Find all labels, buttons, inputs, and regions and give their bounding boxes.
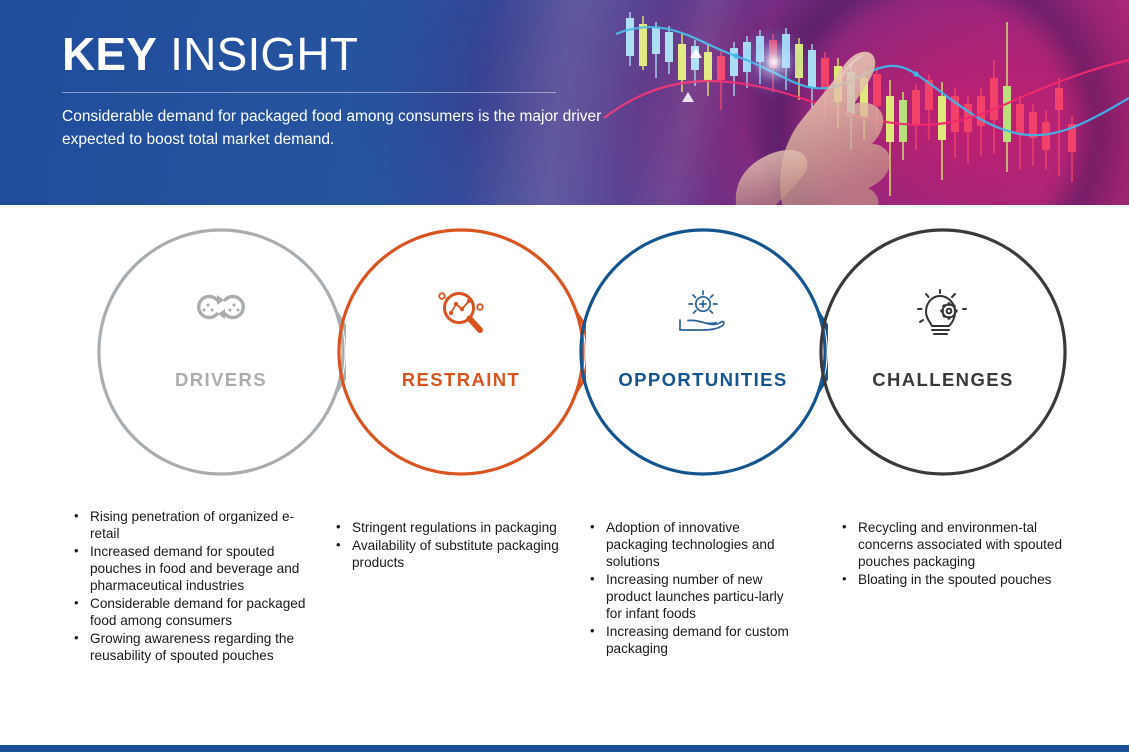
footer-bar [0, 745, 1129, 752]
list-item: Growing awareness regarding the reusabil… [72, 630, 312, 664]
challenges-label: CHALLENGES [818, 369, 1068, 391]
synergy-arrows-icon [193, 289, 249, 325]
page-title: KEY INSIGHT [62, 26, 622, 82]
infographic-page: KEY INSIGHT Considerable demand for pack… [0, 0, 1129, 755]
bullet-columns: Rising penetration of organized e-retail… [0, 508, 1129, 738]
column-restraint: Stringent regulations in packaging Avail… [334, 519, 564, 572]
opportunities-label: OPPORTUNITIES [578, 369, 828, 391]
list-item: Rising penetration of organized e-retail [72, 508, 312, 542]
process-diagram: DRIVERS [0, 205, 1129, 505]
drivers-list: Rising penetration of organized e-retail… [72, 508, 312, 664]
restraint-circle-shape [336, 227, 586, 477]
magnifier-analytics-icon [435, 289, 487, 335]
diagram-node-drivers[interactable]: DRIVERS [96, 227, 346, 477]
page-title-strong: KEY [62, 28, 157, 80]
restraint-list: Stringent regulations in packaging Avail… [334, 519, 564, 571]
opportunities-circle-shape [578, 227, 828, 477]
diagram-node-restraint[interactable]: RESTRAINT [336, 227, 586, 477]
page-title-rest: INSIGHT [157, 28, 358, 80]
lightbulb-gear-icon [917, 289, 969, 341]
list-item: Increasing demand for custom packaging [588, 623, 803, 657]
opportunities-icon-wrap [578, 289, 828, 342]
challenges-icon-wrap [818, 289, 1068, 346]
header-banner: KEY INSIGHT Considerable demand for pack… [0, 0, 1129, 205]
drivers-label: DRIVERS [96, 369, 346, 391]
column-opportunities: Adoption of innovative packaging technol… [588, 519, 803, 658]
drivers-circle-shape [96, 227, 346, 477]
title-divider [62, 92, 556, 93]
column-drivers: Rising penetration of organized e-retail… [72, 508, 312, 665]
list-item: Adoption of innovative packaging technol… [588, 519, 803, 570]
list-item: Stringent regulations in packaging [334, 519, 564, 536]
challenges-circle-shape [818, 227, 1068, 477]
list-item: Bloating in the spouted pouches [840, 571, 1065, 588]
restraint-label: RESTRAINT [336, 369, 586, 391]
opportunities-list: Adoption of innovative packaging technol… [588, 519, 803, 657]
list-item: Recycling and environmen-tal concerns as… [840, 519, 1065, 570]
drivers-icon-wrap [96, 289, 346, 330]
list-item: Increased demand for spouted pouches in … [72, 543, 312, 594]
hand-idea-plus-icon [675, 289, 731, 337]
list-item: Considerable demand for packaged food am… [72, 595, 312, 629]
header-text-block: KEY INSIGHT Considerable demand for pack… [62, 26, 622, 151]
challenges-list: Recycling and environmen-tal concerns as… [840, 519, 1065, 588]
restraint-icon-wrap [336, 289, 586, 340]
list-item: Availability of substitute packaging pro… [334, 537, 564, 571]
list-item: Increasing number of new product launche… [588, 571, 803, 622]
header-subtitle: Considerable demand for packaged food am… [62, 105, 622, 151]
column-challenges: Recycling and environmen-tal concerns as… [840, 519, 1065, 589]
diagram-node-opportunities[interactable]: OPPORTUNITIES [578, 227, 828, 477]
diagram-node-challenges[interactable]: CHALLENGES [818, 227, 1068, 477]
